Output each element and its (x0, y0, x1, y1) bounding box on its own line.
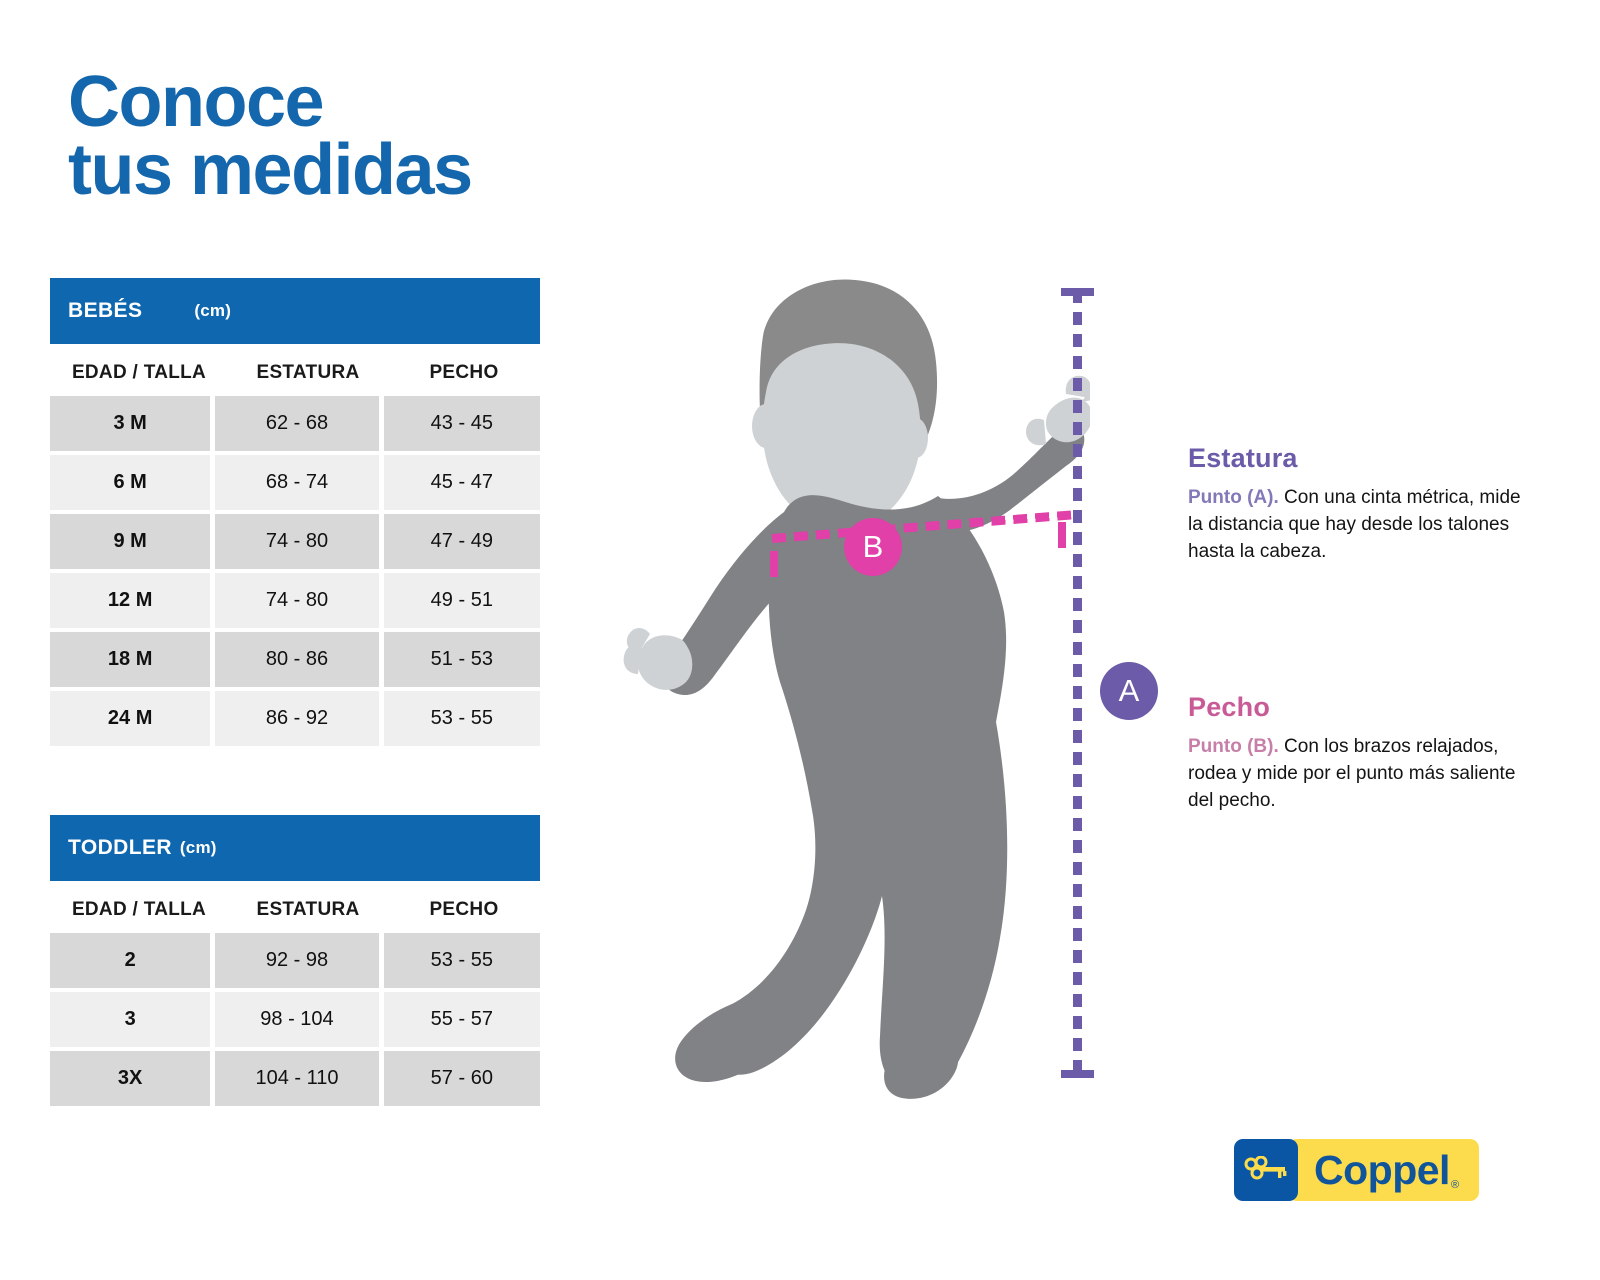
chest-cap-left (770, 551, 778, 577)
cell-estatura: 86 - 92 (215, 691, 378, 746)
band-unit: (cm) (180, 838, 217, 858)
column-header-edad-talla: EDAD / TALLA (50, 362, 228, 384)
coppel-wordmark: Coppel ® (1288, 1139, 1479, 1201)
description-point-label: Punto (A). (1188, 487, 1279, 508)
band-title: TODDLER (68, 836, 172, 860)
cell-pecho: 55 - 57 (384, 992, 540, 1047)
cell-pecho: 51 - 53 (384, 632, 540, 687)
size-chart-page: Conoce tus medidas BEBÉS (cm) EDAD / TAL… (0, 0, 1600, 1280)
cell-estatura: 80 - 86 (215, 632, 378, 687)
column-header-edad-talla: EDAD / TALLA (50, 899, 228, 921)
band-title: BEBÉS (68, 299, 142, 323)
marker-a-icon: A (1100, 662, 1158, 720)
cell-size: 12 M (50, 573, 210, 628)
cell-size: 3 (50, 992, 210, 1047)
cell-size: 24 M (50, 691, 210, 746)
size-table-toddler: TODDLER (cm) EDAD / TALLA ESTATURA PECHO… (50, 815, 540, 1110)
table-row: 3 98 - 104 55 - 57 (50, 992, 540, 1047)
description-point-label: Punto (B). (1188, 736, 1279, 757)
table-row: 3X 104 - 110 57 - 60 (50, 1051, 540, 1106)
marker-b-icon: B (844, 518, 902, 576)
cell-size: 6 M (50, 455, 210, 510)
size-table-bebes: BEBÉS (cm) EDAD / TALLA ESTATURA PECHO 3… (50, 278, 540, 750)
table-rows-toddler: 2 92 - 98 53 - 55 3 98 - 104 55 - 57 3X … (50, 933, 540, 1110)
table-row: 3 M 62 - 68 43 - 45 (50, 396, 540, 451)
chest-cap-right (1058, 522, 1066, 548)
column-header-pecho: PECHO (388, 362, 540, 384)
cell-estatura: 74 - 80 (215, 573, 378, 628)
description-heading: Pecho (1188, 692, 1528, 723)
cell-pecho: 57 - 60 (384, 1051, 540, 1106)
cell-size: 18 M (50, 632, 210, 687)
column-headers: EDAD / TALLA ESTATURA PECHO (50, 881, 540, 933)
column-header-pecho: PECHO (388, 899, 540, 921)
coppel-wordmark-text: Coppel (1314, 1147, 1450, 1194)
description-text: Punto (A). Con una cinta métrica, mide l… (1188, 485, 1528, 566)
cell-pecho: 53 - 55 (384, 933, 540, 988)
coppel-logo: Coppel ® (1234, 1139, 1479, 1201)
description-pecho: Pecho Punto (B). Con los brazos relajado… (1188, 692, 1528, 815)
cell-estatura: 68 - 74 (215, 455, 378, 510)
cell-size: 2 (50, 933, 210, 988)
registered-mark: ® (1451, 1179, 1459, 1191)
column-header-estatura: ESTATURA (228, 362, 388, 384)
table-header-band-bebes: BEBÉS (cm) (50, 278, 540, 344)
table-row: 9 M 74 - 80 47 - 49 (50, 514, 540, 569)
baby-illustration (620, 270, 1090, 1100)
table-row: 2 92 - 98 53 - 55 (50, 933, 540, 988)
table-header-band-toddler: TODDLER (cm) (50, 815, 540, 881)
column-headers: EDAD / TALLA ESTATURA PECHO (50, 344, 540, 396)
cell-pecho: 43 - 45 (384, 396, 540, 451)
description-heading: Estatura (1188, 443, 1528, 474)
column-header-estatura: ESTATURA (228, 899, 388, 921)
height-measure-line (1073, 290, 1082, 1076)
cell-estatura: 104 - 110 (215, 1051, 378, 1106)
band-unit: (cm) (194, 301, 231, 321)
key-icon (1234, 1139, 1298, 1201)
table-rows-bebes: 3 M 62 - 68 43 - 45 6 M 68 - 74 45 - 47 … (50, 396, 540, 750)
page-title-line1: Conoce (68, 68, 472, 136)
table-row: 18 M 80 - 86 51 - 53 (50, 632, 540, 687)
cell-estatura: 98 - 104 (215, 992, 378, 1047)
cell-estatura: 92 - 98 (215, 933, 378, 988)
table-row: 6 M 68 - 74 45 - 47 (50, 455, 540, 510)
cell-pecho: 53 - 55 (384, 691, 540, 746)
table-row: 24 M 86 - 92 53 - 55 (50, 691, 540, 746)
cell-size: 9 M (50, 514, 210, 569)
cell-pecho: 47 - 49 (384, 514, 540, 569)
cell-size: 3X (50, 1051, 210, 1106)
table-row: 12 M 74 - 80 49 - 51 (50, 573, 540, 628)
cell-estatura: 62 - 68 (215, 396, 378, 451)
description-estatura: Estatura Punto (A). Con una cinta métric… (1188, 443, 1528, 566)
page-title: Conoce tus medidas (68, 68, 472, 205)
cell-estatura: 74 - 80 (215, 514, 378, 569)
cell-pecho: 45 - 47 (384, 455, 540, 510)
description-text: Punto (B). Con los brazos relajados, rod… (1188, 734, 1528, 815)
page-title-line2: tus medidas (68, 136, 472, 204)
cell-pecho: 49 - 51 (384, 573, 540, 628)
cell-size: 3 M (50, 396, 210, 451)
measure-cap-bottom (1061, 1070, 1094, 1078)
